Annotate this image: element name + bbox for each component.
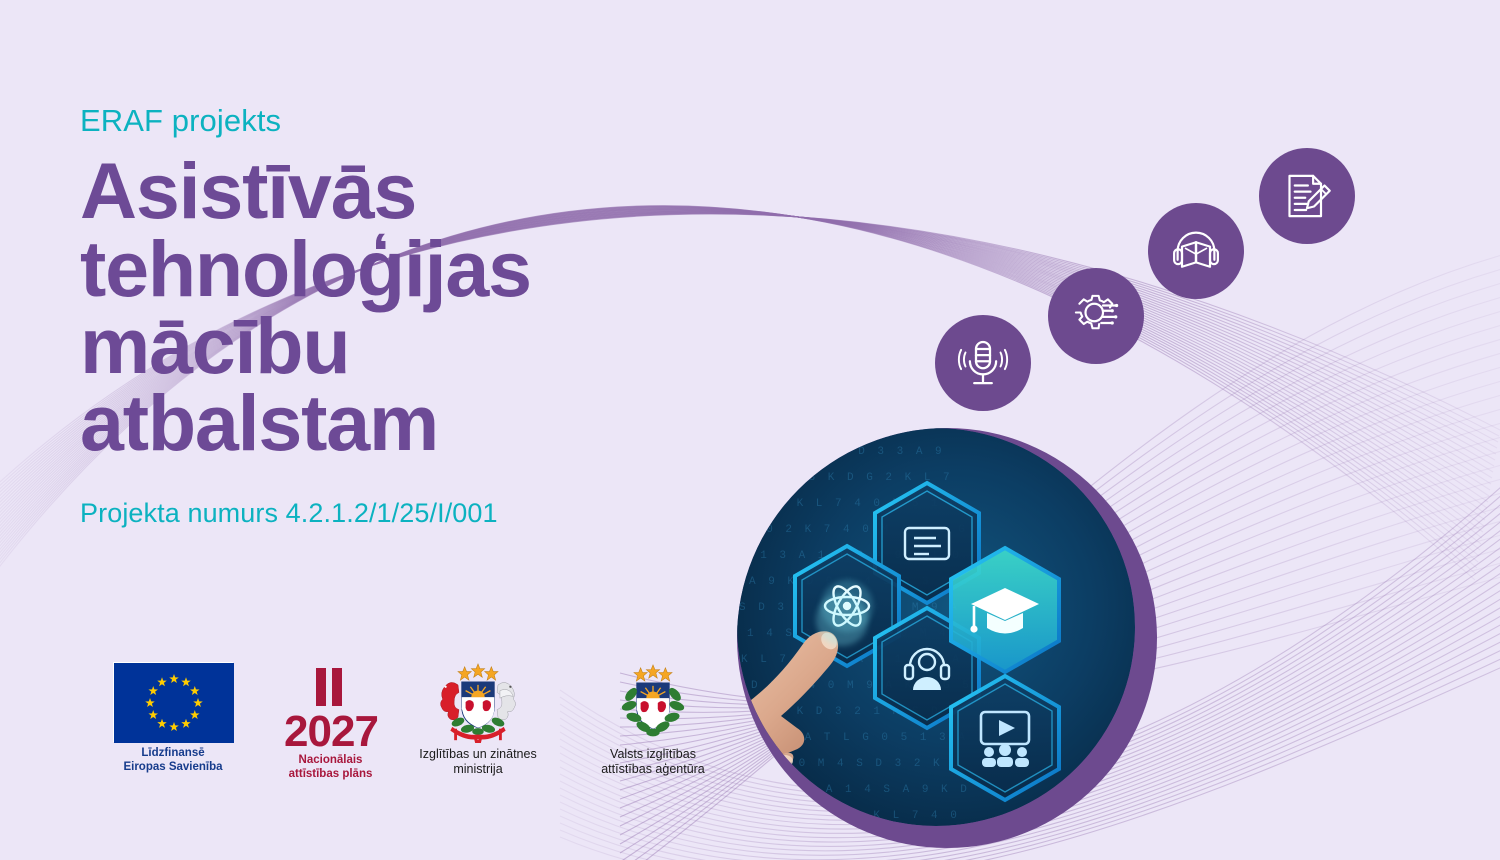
eu-flag-graphic xyxy=(113,662,233,742)
ai-gear-icon xyxy=(1048,268,1144,364)
eu-flag-logo: Līdzfinansē Eiropas Savienība xyxy=(78,662,268,774)
hand-touching-hexagon-interface-photo: 8 3 A 4 M S D 3 3 A 9 K S D 3 K D G 2 K … xyxy=(737,428,1135,826)
eu-logo-caption: Līdzfinansē Eiropas Savienība xyxy=(123,747,222,774)
izm-logo-caption: Izglītības un zinātnes ministrija xyxy=(419,747,536,777)
latvia-coat-of-arms-small xyxy=(588,662,718,744)
svg-text:K S D 3 K D G 2 K L 7: K S D 3 K D G 2 K L 7 xyxy=(751,472,953,484)
svg-text:0 M 4 S D 3 2 K L 7 4 0: 0 M 4 S D 3 2 K L 7 4 0 xyxy=(739,810,960,822)
eraf-project-banner: ERAF projekts Asistīvās tehnoloģijas māc… xyxy=(0,0,1500,860)
viaa-logo-caption: Valsts izglītības attīstības aģentūra xyxy=(601,747,705,777)
funding-logo-strip: Līdzfinansē Eiropas Savienība 2027 Nacio… xyxy=(78,662,743,781)
svg-text:9 K L 0 M 4 S D 3 2 K L: 9 K L 0 M 4 S D 3 2 K L xyxy=(741,758,962,770)
banner-text-column: ERAF projekts Asistīvās tehnoloģijas māc… xyxy=(80,104,700,529)
svg-text:8 3 A 4 M S D 3 3 A 9: 8 3 A 4 M S D 3 3 A 9 xyxy=(743,446,945,458)
izm-logo: Izglītības un zinātnes ministrija xyxy=(393,662,563,777)
page-title: Asistīvās tehnoloģijas mācību atbalstam xyxy=(80,152,700,462)
eyebrow-label: ERAF projekts xyxy=(80,104,700,138)
photo-circle-frame: 8 3 A 4 M S D 3 3 A 9 K S D 3 K D G 2 K … xyxy=(737,428,1157,848)
microphone-icon xyxy=(935,315,1031,411)
document-pencil-icon xyxy=(1259,148,1355,244)
latvia-coat-of-arms-full xyxy=(413,662,543,744)
nap-logo-caption: Nacionālais attīstības plāns xyxy=(289,754,373,781)
viaa-logo: Valsts izglītības attīstības aģentūra xyxy=(563,662,743,777)
svg-text:2027: 2027 xyxy=(284,707,378,752)
nap2027-logo: 2027 Nacionālais attīstības plāns xyxy=(268,662,393,781)
svg-text:7 2 0 8 A 1 4 S A 9 K D: 7 2 0 8 A 1 4 S A 9 K D xyxy=(749,784,970,796)
audiobook-icon xyxy=(1148,203,1244,299)
project-number-label: Projekta numurs 4.2.1.2/1/25/I/001 xyxy=(80,498,700,529)
